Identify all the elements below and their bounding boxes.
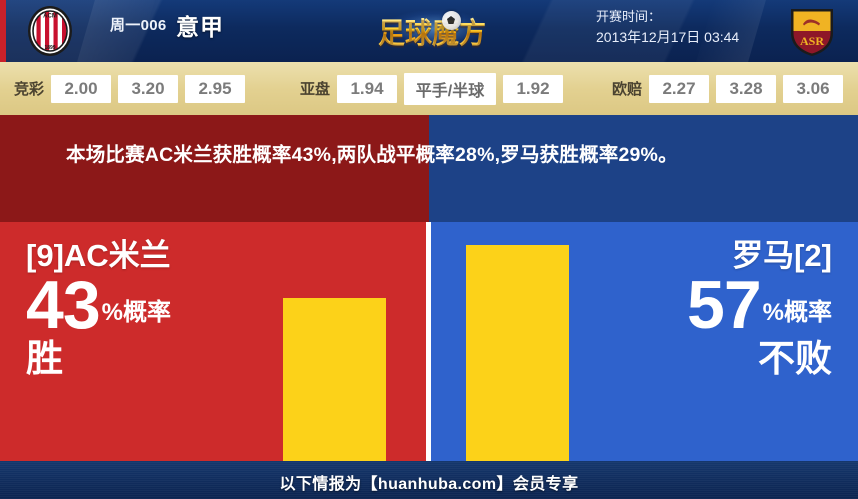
ac-milan-crest-icon: ACM 1899 (24, 4, 76, 58)
footer-text: 以下情报为【huanhuba.com】会员专享 (0, 470, 858, 494)
brand-text: 足球魔方 (356, 9, 508, 51)
brand-logo: 足球魔方 (356, 3, 508, 59)
svg-text:1899: 1899 (44, 45, 55, 51)
header-accent-stripe (0, 0, 6, 62)
away-probability-value: 57 (687, 273, 761, 338)
odds-group-label: 欧赔 (612, 78, 642, 99)
odds-bar: 竞彩 2.00 3.20 2.95 亚盘 1.94 平手/半球 1.92 欧赔 … (0, 62, 858, 115)
away-team-name: 罗马[2] (532, 240, 832, 271)
home-team-info: [9]AC米兰 43 %概率 胜 (26, 240, 276, 377)
kickoff-info: 开赛时间： 2013年12月17日 03:44 (596, 8, 739, 47)
round-label: 周一006 (110, 14, 167, 35)
home-outcome-label: 胜 (26, 340, 276, 377)
svg-text:ACM: ACM (43, 14, 57, 20)
league-name: 意甲 (176, 8, 224, 42)
odds-group-asian-handicap: 亚盘 1.94 平手/半球 1.92 (300, 62, 563, 115)
kickoff-time: 2013年12月17日 03:44 (596, 27, 739, 47)
odds-value-draw[interactable]: 3.20 (118, 75, 178, 103)
odds-value-home[interactable]: 1.94 (337, 75, 397, 103)
odds-value-draw[interactable]: 3.28 (716, 75, 776, 103)
odds-group-european: 欧赔 2.27 3.28 3.06 (612, 62, 843, 115)
svg-text:ASR: ASR (800, 34, 824, 48)
odds-value-away[interactable]: 1.92 (503, 75, 563, 103)
home-probability-row: 43 %概率 (26, 273, 276, 338)
probability-chart: [9]AC米兰 43 %概率 胜 罗马[2] 57 %概率 不败 (0, 222, 858, 461)
soccer-ball-icon (442, 11, 461, 30)
away-team-info: 罗马[2] 57 %概率 不败 (532, 240, 832, 377)
away-probability-row: 57 %概率 (532, 273, 832, 338)
match-prediction-infographic: ACM 1899 周一006 意甲 足球魔方 开赛时间： 2013年12月17日… (0, 0, 858, 499)
odds-value-handicap[interactable]: 平手/半球 (404, 73, 496, 105)
away-probability-suffix: %概率 (761, 292, 832, 338)
odds-value-home[interactable]: 2.27 (649, 75, 709, 103)
summary-banner: 本场比赛AC米兰获胜概率43%,两队战平概率28%,罗马获胜概率29%。 (0, 115, 858, 222)
header-bar: ACM 1899 周一006 意甲 足球魔方 开赛时间： 2013年12月17日… (0, 0, 858, 62)
odds-group-label: 竞彩 (14, 78, 44, 99)
kickoff-label: 开赛时间： (596, 8, 739, 27)
summary-text: 本场比赛AC米兰获胜概率43%,两队战平概率28%,罗马获胜概率29%。 (66, 141, 792, 170)
footer-bar: 以下情报为【huanhuba.com】会员专享 (0, 461, 858, 499)
odds-group-label: 亚盘 (300, 78, 330, 99)
as-roma-crest-icon: ASR (786, 4, 838, 58)
bar-home-probability (283, 298, 386, 461)
away-outcome-label: 不败 (532, 340, 832, 377)
odds-value-away[interactable]: 3.06 (783, 75, 843, 103)
odds-value-away[interactable]: 2.95 (185, 75, 245, 103)
odds-group-jingcai: 竞彩 2.00 3.20 2.95 (14, 62, 245, 115)
odds-value-home[interactable]: 2.00 (51, 75, 111, 103)
home-probability-value: 43 (26, 273, 100, 338)
home-probability-suffix: %概率 (100, 292, 171, 338)
